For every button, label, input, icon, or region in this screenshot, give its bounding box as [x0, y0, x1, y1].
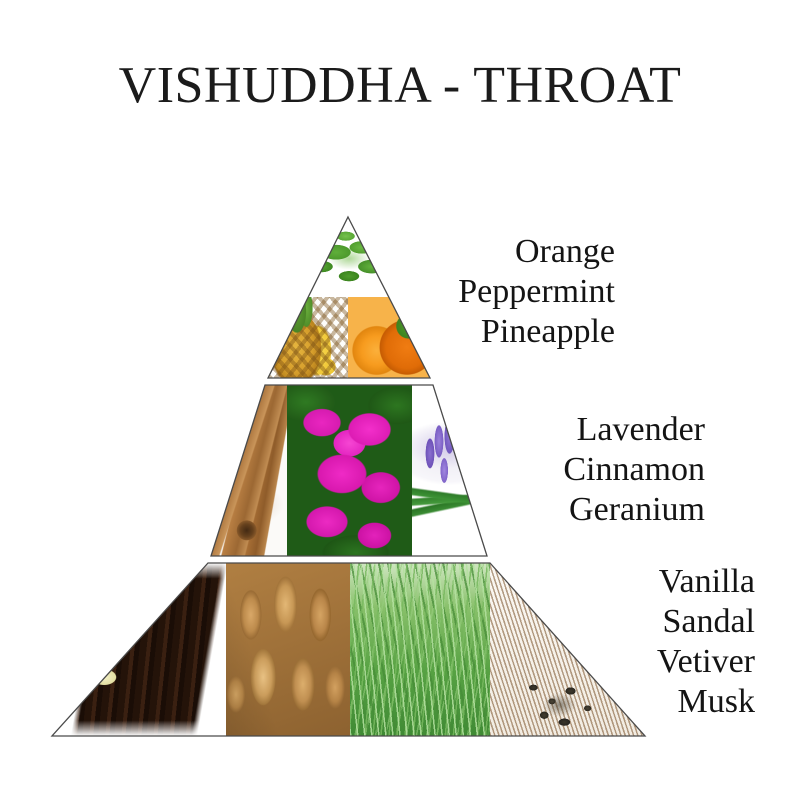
top-note-2: Peppermint: [360, 272, 615, 312]
middle-note-2: Cinnamon: [440, 450, 705, 490]
top-note-3: Pineapple: [360, 312, 615, 352]
vanilla-beans-orchid-photo: [52, 563, 226, 736]
top-note-1: Orange: [360, 232, 615, 272]
page-root: VISHUDDHA - THROAT: [0, 0, 800, 800]
sandalwood-logs-photo: [226, 563, 350, 736]
top-notes-labels: Orange Peppermint Pineapple: [360, 232, 615, 352]
base-note-3: Vetiver: [520, 642, 755, 682]
middle-note-3: Geranium: [440, 490, 705, 530]
base-note-1: Vanilla: [520, 562, 755, 602]
base-note-4: Musk: [520, 682, 755, 722]
base-note-2: Sandal: [520, 602, 755, 642]
middle-note-1: Lavender: [440, 410, 705, 450]
geranium-flower-photo: [287, 385, 412, 556]
middle-notes-labels: Lavender Cinnamon Geranium: [440, 410, 705, 530]
pineapple-photo: [268, 297, 348, 378]
base-notes-labels: Vanilla Sandal Vetiver Musk: [520, 562, 755, 722]
cinnamon-star-anise-photo: [211, 385, 287, 556]
vetiver-grass-photo: [350, 563, 490, 736]
